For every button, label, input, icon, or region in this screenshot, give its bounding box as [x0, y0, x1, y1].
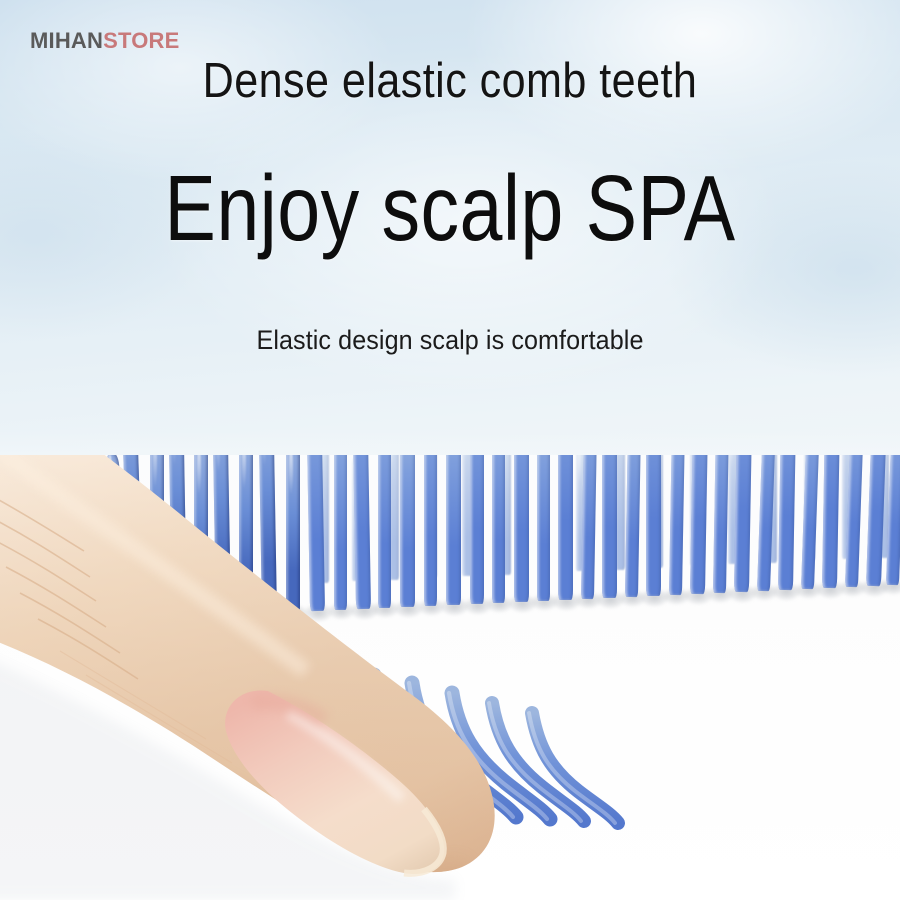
brand-logo: MIHANSTORE — [30, 28, 180, 54]
main-heading: Enjoy scalp SPA — [77, 160, 824, 258]
eyebrow-heading: Dense elastic comb teeth — [54, 53, 846, 109]
brand-name-primary: MIHAN — [30, 28, 103, 53]
brand-name-secondary: STORE — [103, 28, 179, 53]
marketing-banner: MIHANSTORE Dense elastic comb teeth Enjo… — [0, 0, 900, 900]
sub-heading: Elastic design scalp is comfortable — [32, 325, 869, 356]
product-photo — [0, 455, 900, 900]
finger — [0, 455, 900, 900]
